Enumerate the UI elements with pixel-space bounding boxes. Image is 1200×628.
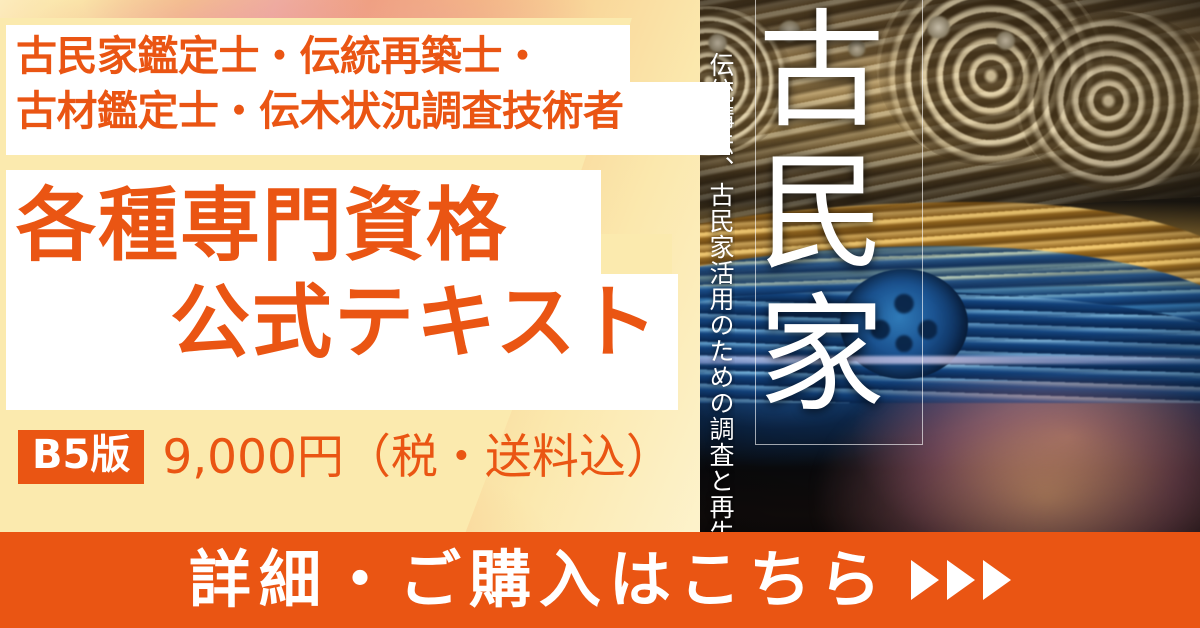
- cta-label: 詳細・ご購入はこちら: [189, 549, 889, 611]
- cta-arrows: [911, 560, 1011, 600]
- qualifications-list: 古民家鑑定士・伝統再築士・ 古材鑑定士・伝木状況調査技術者: [16, 29, 728, 138]
- promo-banner: 古民家 伝統構法、古民家活用のための調査と再生の 古民家鑑定士・伝統再築士・ 古…: [0, 0, 1200, 628]
- cover-title-frame: [755, 0, 923, 445]
- chevron-right-icon: [983, 560, 1011, 600]
- cta-bar[interactable]: 詳細・ご購入はこちら: [0, 532, 1200, 628]
- headline-line-2: 公式テキスト: [170, 283, 660, 363]
- headline-line-1: 各種専門資格: [16, 186, 508, 266]
- chevron-right-icon: [911, 560, 939, 600]
- size-badge: B5版: [18, 430, 144, 484]
- price-amount: 9,000円（税・送料込）: [162, 434, 673, 481]
- chevron-right-icon: [947, 560, 975, 600]
- price-row: B5版 9,000円（税・送料込）: [18, 430, 673, 484]
